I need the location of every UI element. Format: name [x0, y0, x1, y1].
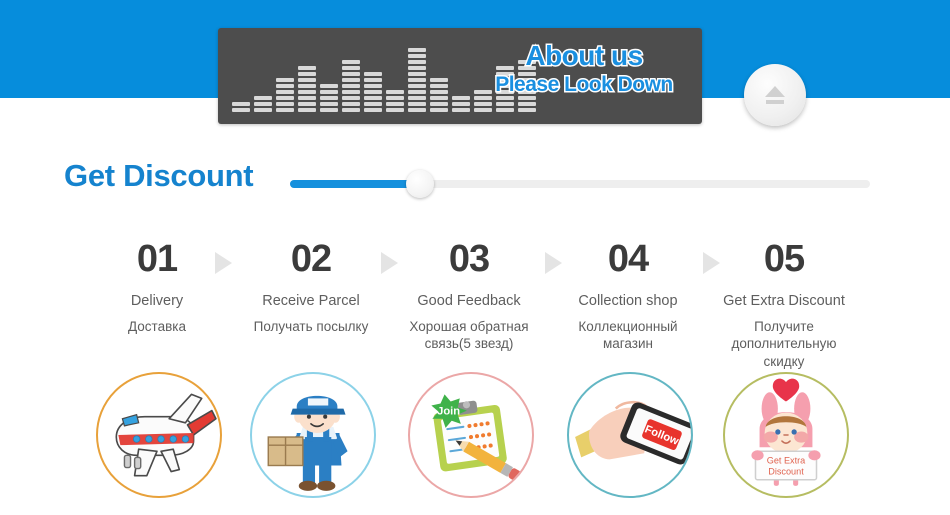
equalizer-segment: [364, 90, 382, 94]
get-discount-row: Get Discount: [0, 158, 950, 212]
equalizer-segment: [298, 102, 316, 106]
illustration-delivery-man: [250, 372, 376, 498]
delivery-man-icon: [252, 374, 374, 496]
equalizer-segment: [364, 72, 382, 76]
illustration-hand-phone: Follow: [567, 372, 693, 498]
step-label-ru: Коллекционный магазин: [567, 318, 689, 353]
equalizer-segment: [342, 84, 360, 88]
equalizer-segment: [430, 78, 448, 82]
equalizer-segment: [342, 60, 360, 64]
step-number: 05: [723, 240, 845, 278]
step-number: 04: [567, 240, 689, 278]
equalizer-segment: [474, 96, 492, 100]
equalizer-segment: [518, 108, 536, 112]
equalizer-segment: [364, 78, 382, 82]
equalizer-segment: [452, 96, 470, 100]
step-number: 01: [96, 240, 218, 278]
equalizer-segment: [298, 78, 316, 82]
equalizer-segment: [254, 102, 272, 106]
triangle-right-icon: [381, 252, 398, 274]
equalizer-bar: [276, 78, 294, 112]
equalizer-segment: [232, 102, 250, 106]
equalizer-segment: [364, 96, 382, 100]
equalizer-segment: [342, 90, 360, 94]
eject-icon: [762, 83, 788, 107]
bunny-discount-icon: Get Extra Discount: [725, 374, 847, 496]
equalizer-segment: [254, 108, 272, 112]
equalizer-segment: [408, 108, 426, 112]
equalizer-segment: [408, 66, 426, 70]
equalizer-segment: [474, 102, 492, 106]
equalizer-segment: [386, 108, 404, 112]
equalizer-segment: [408, 96, 426, 100]
equalizer-segment: [342, 102, 360, 106]
equalizer-segment: [386, 90, 404, 94]
equalizer-segment: [320, 108, 338, 112]
about-us-subtitle: Please Look Down: [474, 74, 694, 95]
equalizer-segment: [342, 108, 360, 112]
equalizer-segment: [430, 90, 448, 94]
illustrations-row: Join Follow: [0, 372, 950, 512]
triangle-right-icon: [703, 252, 720, 274]
equalizer-segment: [276, 102, 294, 106]
equalizer-segment: [254, 96, 272, 100]
equalizer-segment: [298, 108, 316, 112]
equalizer-segment: [408, 60, 426, 64]
equalizer-segment: [430, 84, 448, 88]
hand-phone-follow-icon: Follow: [569, 374, 691, 496]
step-label-en: Delivery: [96, 292, 218, 312]
step-04: 04Collection shopКоллекционный магазин: [567, 240, 689, 353]
step-05: 05Get Extra DiscountПолучите дополнитель…: [723, 240, 845, 370]
equalizer-segment: [364, 108, 382, 112]
equalizer-bar: [254, 96, 272, 112]
equalizer-segment: [342, 66, 360, 70]
equalizer-segment: [298, 66, 316, 70]
equalizer-bar: [386, 90, 404, 112]
equalizer-segment: [408, 54, 426, 58]
equalizer-segment: [408, 78, 426, 82]
equalizer-segment: [518, 102, 536, 106]
about-us-panel: About us Please Look Down: [218, 28, 702, 124]
equalizer-bar: [364, 72, 382, 112]
equalizer-segment: [276, 78, 294, 82]
step-label-ru: Хорошая обратная связь(5 звезд): [408, 318, 530, 353]
step-01: 01DeliveryДоставка: [96, 240, 218, 335]
equalizer-segment: [518, 96, 536, 100]
slider-fill: [290, 180, 418, 188]
equalizer-segment: [298, 72, 316, 76]
equalizer-bar: [320, 84, 338, 112]
equalizer-segment: [298, 90, 316, 94]
triangle-right-icon: [545, 252, 562, 274]
equalizer-segment: [408, 90, 426, 94]
discount-slider[interactable]: [290, 178, 870, 190]
equalizer-segment: [232, 108, 250, 112]
step-03: 03Good FeedbackХорошая обратная связь(5 …: [408, 240, 530, 353]
equalizer-segment: [408, 102, 426, 106]
step-number: 03: [408, 240, 530, 278]
step-label-ru: Получите дополнительную скидку: [723, 318, 845, 371]
equalizer-segment: [320, 90, 338, 94]
steps-row: 01DeliveryДоставка02Receive ParcelПолуча…: [0, 240, 950, 370]
equalizer-segment: [386, 96, 404, 100]
equalizer-bar: [452, 96, 470, 112]
equalizer-segment: [276, 84, 294, 88]
equalizer-segment: [452, 108, 470, 112]
discount-sign-line2: Discount: [768, 467, 804, 477]
equalizer-segment: [496, 108, 514, 112]
equalizer-segment: [276, 90, 294, 94]
illustration-clipboard-review: Join: [408, 372, 534, 498]
equalizer-bar: [430, 78, 448, 112]
equalizer-segment: [320, 102, 338, 106]
equalizer-bar: [408, 48, 426, 112]
equalizer-segment: [496, 96, 514, 100]
discount-sign-line1: Get Extra: [767, 455, 806, 465]
equalizer-segment: [276, 96, 294, 100]
equalizer-segment: [364, 102, 382, 106]
get-discount-title: Get Discount: [64, 158, 253, 194]
equalizer-bar: [342, 60, 360, 112]
equalizer-segment: [430, 96, 448, 100]
equalizer-segment: [320, 84, 338, 88]
equalizer-segment: [430, 108, 448, 112]
eject-button[interactable]: [744, 64, 806, 126]
about-us-text-block: About us Please Look Down: [474, 42, 694, 95]
equalizer-segment: [408, 84, 426, 88]
step-label-ru: Получать посылку: [250, 318, 372, 336]
equalizer-segment: [320, 96, 338, 100]
equalizer-segment: [408, 72, 426, 76]
equalizer-segment: [452, 102, 470, 106]
equalizer-bar: [298, 66, 316, 112]
step-number: 02: [250, 240, 372, 278]
about-us-title: About us: [474, 42, 694, 70]
step-label-ru: Доставка: [96, 318, 218, 336]
step-label-en: Good Feedback: [408, 292, 530, 312]
triangle-right-icon: [215, 252, 232, 274]
airplane-icon: [98, 374, 220, 496]
equalizer-segment: [496, 102, 514, 106]
equalizer-segment: [386, 102, 404, 106]
equalizer-segment: [364, 84, 382, 88]
equalizer-segment: [298, 84, 316, 88]
equalizer-bar: [232, 102, 250, 112]
equalizer-segment: [474, 108, 492, 112]
equalizer-segment: [430, 102, 448, 106]
step-label-en: Receive Parcel: [250, 292, 372, 312]
equalizer-segment: [342, 96, 360, 100]
step-label-en: Collection shop: [567, 292, 689, 312]
illustration-bunny-discount: Get Extra Discount: [723, 372, 849, 498]
step-02: 02Receive ParcelПолучать посылку: [250, 240, 372, 335]
slider-knob-icon[interactable]: [406, 170, 434, 198]
equalizer-segment: [298, 96, 316, 100]
step-label-en: Get Extra Discount: [723, 292, 845, 312]
equalizer-segment: [342, 72, 360, 76]
equalizer-segment: [408, 48, 426, 52]
equalizer-segment: [342, 78, 360, 82]
clipboard-review-icon: Join: [410, 374, 532, 496]
illustration-airplane: [96, 372, 222, 498]
equalizer-segment: [276, 108, 294, 112]
join-badge-text: Join: [437, 406, 460, 418]
